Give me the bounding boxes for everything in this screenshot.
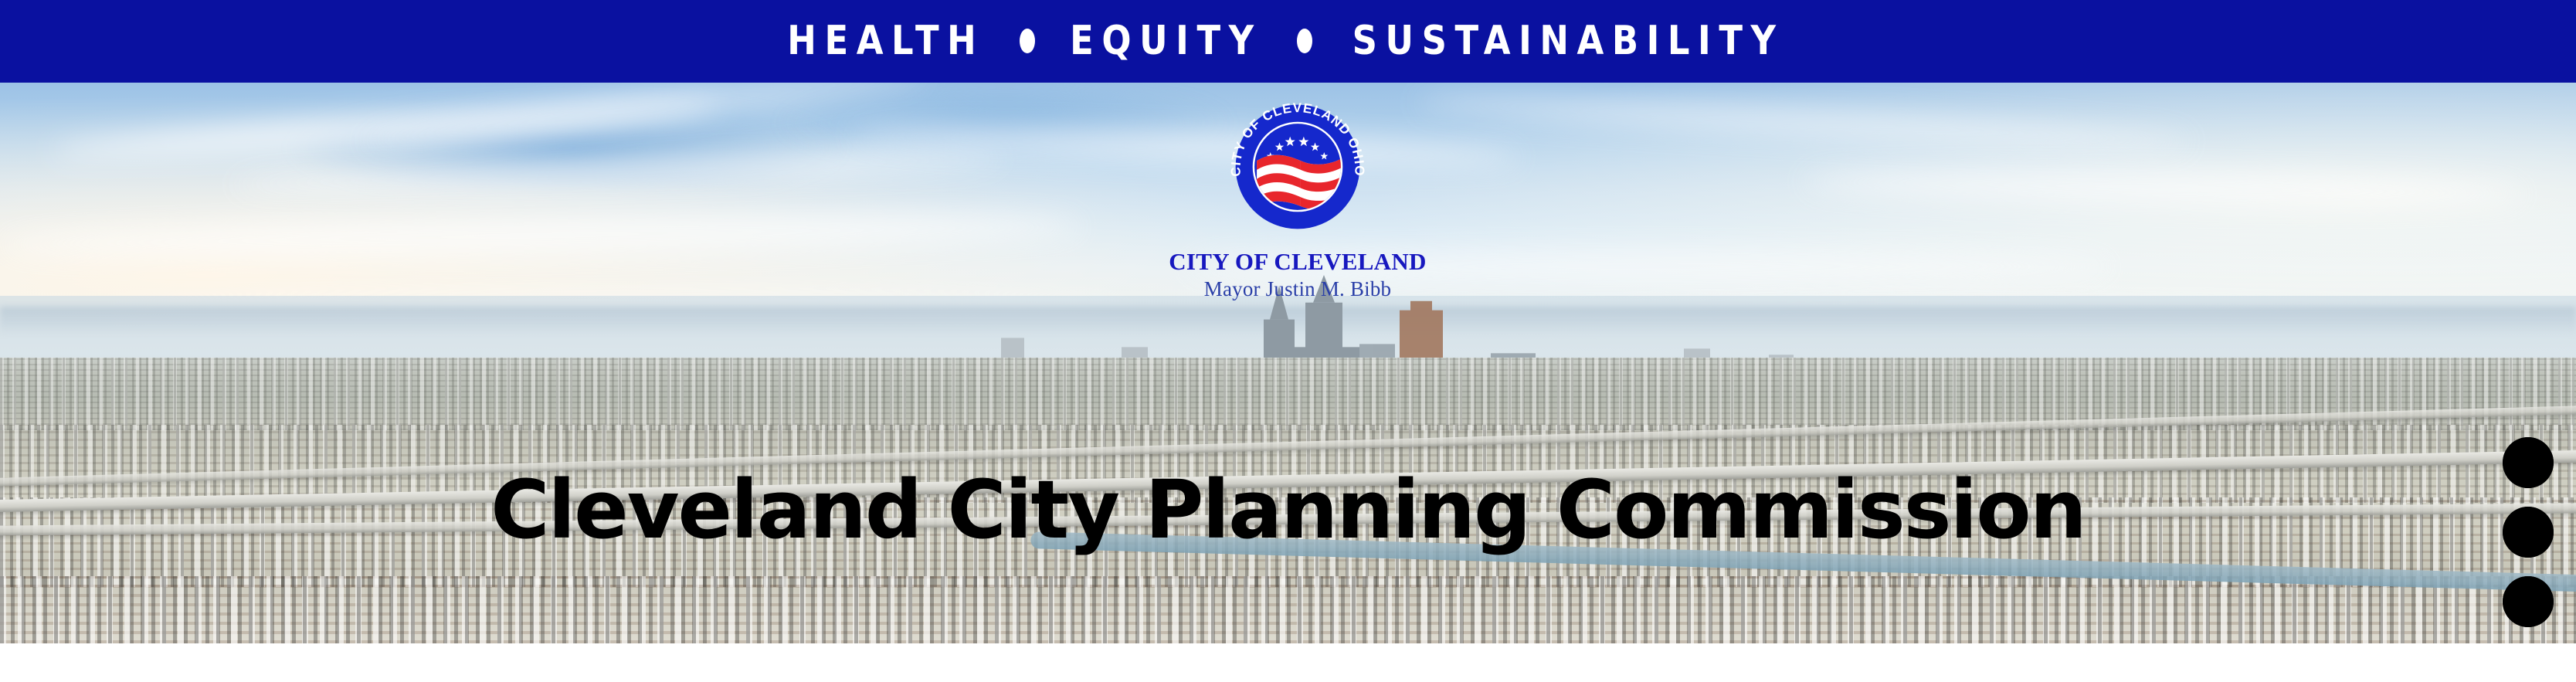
instagram-icon[interactable]	[2503, 507, 2554, 558]
youtube-icon[interactable]	[2503, 437, 2554, 488]
slogan-word-health: HEALTH	[787, 21, 984, 61]
social-links-rail	[2502, 437, 2554, 627]
slogan-word-equity: EQUITY	[1070, 21, 1262, 61]
city-name-label: CITY OF CLEVELAND	[1169, 249, 1427, 275]
slogan-banner-content: HEALTH EQUITY SUSTAINABILITY	[783, 21, 1793, 61]
cityscape-texture-band	[0, 576, 2576, 643]
page-root: HEALTH EQUITY SUSTAINABILITY	[0, 0, 2576, 682]
mayor-name-label: Mayor Justin M. Bibb	[1204, 278, 1392, 300]
slogan-word-sustainability: SUSTAINABILITY	[1352, 21, 1784, 61]
city-logo-lockup[interactable]: CITY OF CLEVELAND OHIO	[1143, 91, 1452, 323]
bullet-dot-icon	[1297, 29, 1312, 53]
facebook-icon[interactable]	[2503, 576, 2554, 627]
city-of-cleveland-seal-icon[interactable]: CITY OF CLEVELAND OHIO	[1222, 91, 1373, 243]
page-title: Cleveland City Planning Commission	[0, 470, 2576, 550]
slogan-banner: HEALTH EQUITY SUSTAINABILITY	[0, 0, 2576, 83]
bullet-dot-icon	[1020, 29, 1035, 53]
